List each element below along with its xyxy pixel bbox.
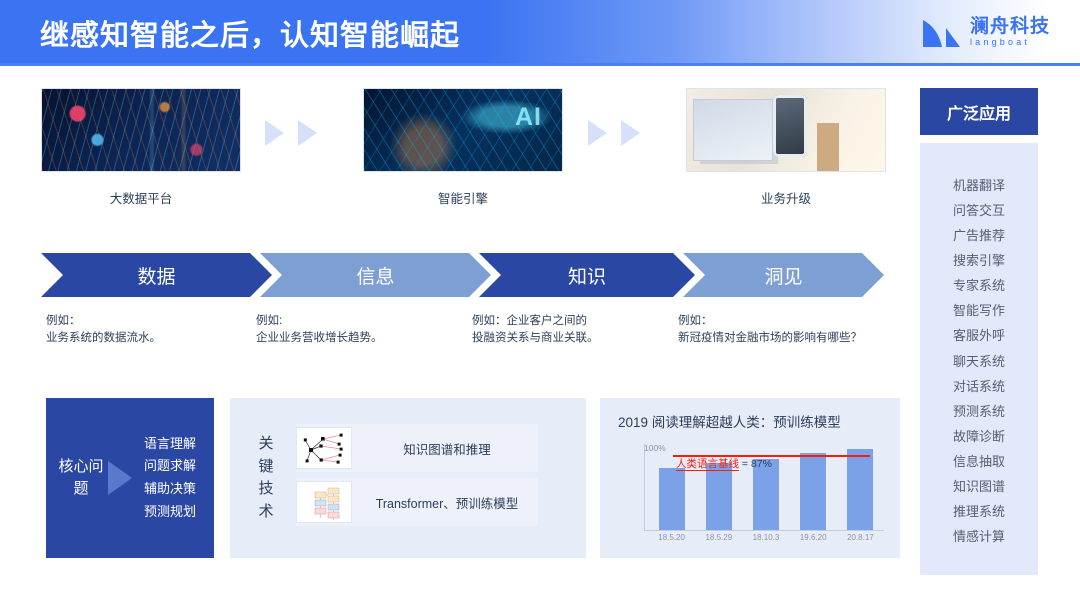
pipeline-caption-1: 大数据平台 — [41, 188, 241, 207]
key-tech-row[interactable]: Transformer、预训练模型 — [296, 478, 538, 526]
chart-bar — [706, 463, 732, 530]
reading-comprehension-chart-card: 2019 阅读理解超越人类：预训练模型 100% 人类语言基线 = 87% 18… — [600, 398, 900, 558]
logo-name-cn: 澜舟科技 — [970, 17, 1050, 36]
chart-x-tick-labels: 18.5.20 18.5.29 18.10.3 19.6.20 20.8.17 — [648, 533, 884, 542]
knowledge-graph-thumbnail-icon — [296, 427, 352, 469]
application-item-4[interactable]: 专家系统 — [953, 273, 1005, 298]
key-tech-label: 关键技术 — [252, 433, 280, 523]
core-problems-list: 语言理解 问题求解 辅助决策 预测规划 — [144, 433, 196, 524]
pipeline-arrow-group-2 — [588, 120, 640, 146]
value-chain-example-2: 例如: 企业业务营收增长趋势。 — [256, 313, 383, 348]
application-item-14[interactable]: 情感计算 — [953, 524, 1005, 549]
pipeline-arrow-group-1 — [265, 120, 317, 146]
core-problem-item: 语言理解 — [144, 433, 196, 456]
chart-bar — [847, 449, 873, 530]
chart-title: 2019 阅读理解超越人类：预训练模型 — [618, 411, 841, 431]
play-triangle-icon — [621, 120, 640, 146]
application-item-3[interactable]: 搜索引擎 — [953, 248, 1005, 273]
transformer-architecture-thumbnail-icon — [296, 481, 352, 523]
human-baseline-label: 人类语言基线 = 87% — [676, 456, 772, 471]
chart-bar — [800, 453, 826, 530]
application-item-9[interactable]: 预测系统 — [953, 399, 1005, 424]
pipeline-photo-row: 大数据平台 智能引擎 业务升级 — [0, 78, 905, 208]
core-problem-item: 问题求解 — [144, 455, 196, 478]
application-item-12[interactable]: 知识图谱 — [953, 474, 1005, 499]
application-item-5[interactable]: 智能写作 — [953, 298, 1005, 323]
chart-x-axis — [644, 530, 884, 531]
chart-y-axis — [644, 444, 645, 530]
value-chain-example-4: 例如： 新冠疫情对金融市场的影响有哪些？ — [678, 313, 862, 348]
chart-x-tick: 18.10.3 — [742, 533, 789, 542]
play-triangle-icon — [588, 120, 607, 146]
header-divider — [0, 63, 1080, 66]
chart-x-tick: 18.5.29 — [695, 533, 742, 542]
right-arrow-icon — [108, 461, 132, 495]
key-tech-panel: 关键技术 — [230, 398, 586, 558]
baseline-label-cn: 人类语言基线 — [676, 458, 739, 471]
pipeline-photo-2 — [363, 88, 563, 172]
chevron-step-4[interactable]: 洞见 — [683, 253, 884, 297]
applications-header: 广泛应用 — [920, 88, 1038, 135]
chevron-step-2[interactable]: 信息 — [260, 253, 491, 297]
logo-name-en: langboat — [970, 38, 1050, 47]
chart-bar — [659, 468, 685, 530]
page-header: 继感知智能之后，认知智能崛起 澜舟科技 langboat — [0, 0, 1080, 63]
value-chain-band: 数据 信息 知识 洞见 — [41, 253, 884, 297]
pipeline-caption-2: 智能引擎 — [363, 188, 563, 207]
applications-list: 机器翻译 问答交互 广告推荐 搜索引擎 专家系统 智能写作 客服外呼 聊天系统 … — [920, 143, 1038, 575]
key-tech-text: 知识图谱和推理 — [356, 439, 538, 458]
brand-logo: 澜舟科技 langboat — [920, 14, 1050, 50]
application-item-10[interactable]: 故障诊断 — [953, 424, 1005, 449]
application-item-2[interactable]: 广告推荐 — [953, 223, 1005, 248]
application-item-8[interactable]: 对话系统 — [953, 374, 1005, 399]
sailboat-logo-icon — [920, 14, 962, 50]
chart-plot-area: 100% 人类语言基线 = 87% 18.5.20 18.5.29 18.10.… — [618, 444, 884, 539]
application-item-11[interactable]: 信息抽取 — [953, 449, 1005, 474]
value-chain-example-3: 例如：企业客户之间的 投融资关系与商业关联。 — [472, 313, 599, 348]
core-problems-panel: 核心问题 语言理解 问题求解 辅助决策 预测规划 — [46, 398, 214, 558]
core-problem-item: 辅助决策 — [144, 478, 196, 501]
play-triangle-icon — [298, 120, 317, 146]
application-item-6[interactable]: 客服外呼 — [953, 323, 1005, 348]
core-problem-item: 预测规划 — [144, 501, 196, 524]
page-title: 继感知智能之后，认知智能崛起 — [40, 12, 460, 54]
application-item-13[interactable]: 推理系统 — [953, 499, 1005, 524]
applications-sidebar: 广泛应用 机器翻译 问答交互 广告推荐 搜索引擎 专家系统 智能写作 客服外呼 … — [920, 88, 1038, 575]
pipeline-photo-3 — [686, 88, 886, 172]
pipeline-caption-3: 业务升级 — [686, 188, 886, 207]
play-triangle-icon — [265, 120, 284, 146]
core-problems-label: 核心问题 — [58, 456, 104, 500]
application-item-7[interactable]: 聊天系统 — [953, 349, 1005, 374]
chevron-step-1[interactable]: 数据 — [41, 253, 272, 297]
application-item-0[interactable]: 机器翻译 — [953, 173, 1005, 198]
key-tech-text: Transformer、预训练模型 — [356, 493, 538, 512]
chart-x-tick: 20.8.17 — [837, 533, 884, 542]
chart-x-tick: 18.5.20 — [648, 533, 695, 542]
value-chain-example-1: 例如： 业务系统的数据流水。 — [46, 313, 161, 348]
key-tech-row[interactable]: 知识图谱和推理 — [296, 424, 538, 472]
baseline-label-value: = 87% — [739, 458, 772, 470]
chart-x-tick: 19.6.20 — [790, 533, 837, 542]
pipeline-photo-1 — [41, 88, 241, 172]
application-item-1[interactable]: 问答交互 — [953, 198, 1005, 223]
chevron-step-3[interactable]: 知识 — [479, 253, 695, 297]
